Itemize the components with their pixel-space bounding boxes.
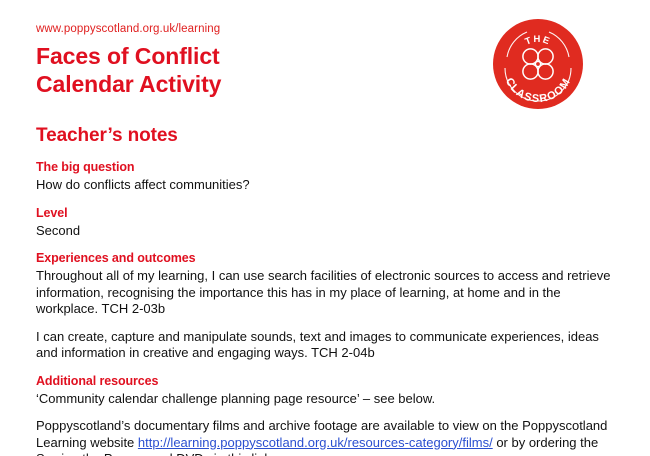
block-additional-resources: Additional resources ‘Community calendar… — [36, 374, 616, 456]
text-experiences-paragraph-1: Throughout all of my learning, I can use… — [36, 268, 616, 318]
subheading-experiences-and-outcomes: Experiences and outcomes — [36, 251, 616, 266]
subheading-big-question: The big question — [36, 160, 616, 175]
text-big-question: How do conflicts affect communities? — [36, 177, 616, 194]
text-experiences-paragraph-2: I can create, capture and manipulate sou… — [36, 329, 616, 362]
subheading-additional-resources: Additional resources — [36, 374, 616, 389]
subheading-level: Level — [36, 206, 616, 221]
page-title-line-2: Calendar Activity — [36, 70, 466, 98]
poppyscotland-films-link[interactable]: http://learning.poppyscotland.org.uk/res… — [138, 435, 493, 450]
document-body: Teacher’s notes The big question How do … — [36, 124, 616, 456]
text-additional-resources-paragraph-2: Poppyscotland’s documentary films and ar… — [36, 418, 616, 456]
block-level: Level Second — [36, 206, 616, 240]
block-experiences-and-outcomes: Experiences and outcomes Throughout all … — [36, 251, 616, 362]
document-header: www.poppyscotland.org.uk/learning Faces … — [36, 22, 466, 98]
page-title: Faces of Conflict Calendar Activity — [36, 42, 466, 98]
site-url: www.poppyscotland.org.uk/learning — [36, 22, 466, 36]
page-title-line-1: Faces of Conflict — [36, 43, 220, 69]
text-additional-resources-paragraph-1: ‘Community calendar challenge planning p… — [36, 391, 616, 408]
the-classroom-logo: THE CLASSROOM — [487, 13, 589, 115]
document-page: www.poppyscotland.org.uk/learning Faces … — [0, 0, 650, 456]
block-big-question: The big question How do conflicts affect… — [36, 160, 616, 194]
text-level: Second — [36, 223, 616, 240]
section-title-teachers-notes: Teacher’s notes — [36, 124, 616, 147]
